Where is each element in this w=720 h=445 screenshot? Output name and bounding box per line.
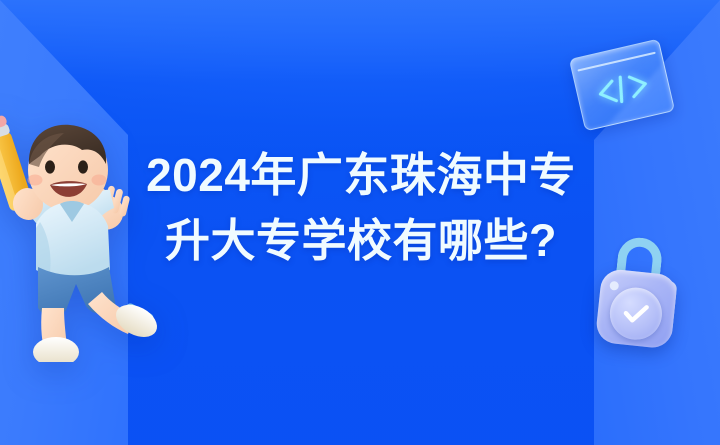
headline-line-1: 2024年广东珠海中专: [128, 142, 594, 208]
headline-line-2: 升大专学校有哪些?: [128, 208, 594, 274]
promo-banner: 2024年广东珠海中专 升大专学校有哪些?: [0, 0, 720, 445]
boy-jumping-with-pencil-illustration: [0, 112, 173, 362]
padlock-check-icon: [586, 233, 693, 354]
check-icon: [620, 300, 652, 327]
headline: 2024年广东珠海中专 升大专学校有哪些?: [128, 142, 594, 274]
